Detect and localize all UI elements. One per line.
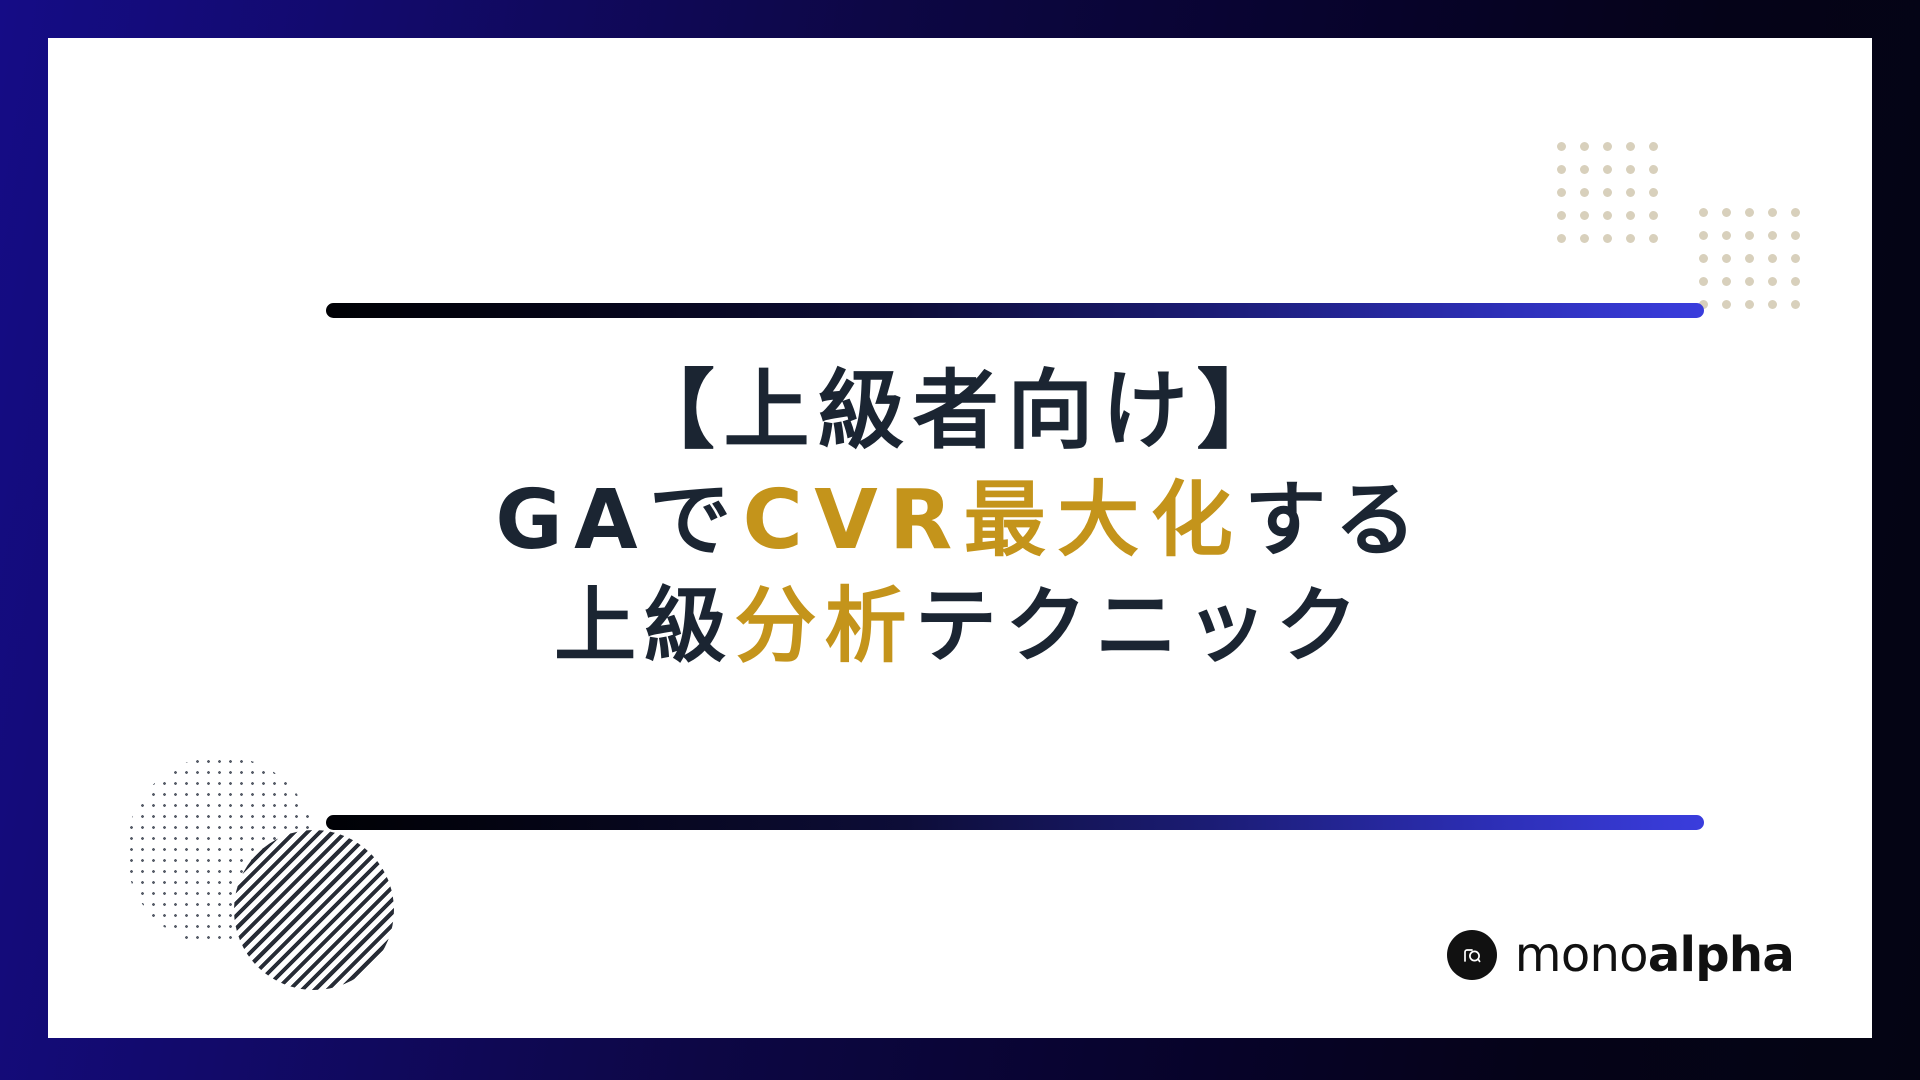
title-line-3: 上級分析テクニック <box>48 574 1872 681</box>
dot-grid-dot <box>1768 300 1777 309</box>
dot-grid-dot <box>1626 188 1635 197</box>
dot-grid-dot <box>1745 231 1754 240</box>
dot-grid-dot <box>1649 211 1658 220</box>
dot-grid-dot <box>1649 188 1658 197</box>
slide-card: 【上級者向け】 GAでCVR最大化する 上級分析テクニック monoalpha <box>48 38 1872 1038</box>
dot-grid-dot <box>1580 211 1589 220</box>
dot-grid-row <box>1699 300 1814 323</box>
dot-grid-dot <box>1603 165 1612 174</box>
title-line-2-highlight: CVR最大化 <box>743 473 1245 568</box>
brand-logo: monoalpha <box>1447 930 1794 980</box>
title-line-1: 【上級者向け】 <box>48 356 1872 468</box>
dot-grid-row <box>1557 142 1672 165</box>
logo-mark-icon <box>1447 930 1497 980</box>
dot-grid-pattern-lower <box>1699 208 1814 323</box>
dot-grid-dot <box>1626 211 1635 220</box>
dot-grid-row <box>1557 188 1672 211</box>
dot-grid-dot <box>1699 231 1708 240</box>
dot-grid-dot <box>1649 165 1658 174</box>
dot-grid-dot <box>1626 234 1635 243</box>
dot-grid-dot <box>1603 188 1612 197</box>
dot-grid-dot <box>1557 165 1566 174</box>
dot-grid-dot <box>1745 277 1754 286</box>
dot-grid-dot <box>1699 254 1708 263</box>
logo-wordmark-mono: mono <box>1515 927 1648 983</box>
dot-grid-dot <box>1745 300 1754 309</box>
dot-grid-dot <box>1768 208 1777 217</box>
title-line-2: GAでCVR最大化する <box>48 468 1872 575</box>
divider-rule-bottom <box>326 815 1704 830</box>
dot-grid-dot <box>1722 231 1731 240</box>
dot-grid-dot <box>1791 277 1800 286</box>
logo-wordmark: monoalpha <box>1515 931 1794 979</box>
dot-grid-dot <box>1603 142 1612 151</box>
dot-grid-dot <box>1649 234 1658 243</box>
dot-grid-dot <box>1580 234 1589 243</box>
dot-grid-dot <box>1699 277 1708 286</box>
dot-grid-dot <box>1699 208 1708 217</box>
dot-grid-row <box>1699 277 1814 300</box>
dot-grid-dot <box>1722 277 1731 286</box>
dot-grid-dot <box>1626 165 1635 174</box>
dot-grid-row <box>1557 165 1672 188</box>
dot-grid-dot <box>1580 165 1589 174</box>
dot-grid-dot <box>1557 188 1566 197</box>
dot-grid-dot <box>1745 254 1754 263</box>
divider-rule-top <box>326 303 1704 318</box>
dot-grid-dot <box>1768 254 1777 263</box>
dot-grid-row <box>1699 208 1814 231</box>
dot-grid-dot <box>1768 277 1777 286</box>
dot-grid-dot <box>1722 300 1731 309</box>
dot-grid-dot <box>1768 231 1777 240</box>
dot-grid-row <box>1557 211 1672 234</box>
logo-wordmark-alpha: alpha <box>1648 927 1794 983</box>
dot-grid-dot <box>1603 234 1612 243</box>
slide-background: 【上級者向け】 GAでCVR最大化する 上級分析テクニック monoalpha <box>0 0 1920 1080</box>
title-line-3-part3: テクニック <box>915 579 1366 674</box>
dot-grid-dot <box>1626 142 1635 151</box>
dot-grid-row <box>1557 234 1672 257</box>
dot-grid-dot <box>1722 254 1731 263</box>
dot-grid-dot <box>1791 231 1800 240</box>
dot-grid-dot <box>1649 142 1658 151</box>
dot-grid-dot <box>1557 211 1566 220</box>
dot-grid-dot <box>1603 211 1612 220</box>
dot-grid-dot <box>1745 208 1754 217</box>
title-line-2-part1: GAで <box>495 473 742 568</box>
dot-grid-dot <box>1791 254 1800 263</box>
dot-grid-dot <box>1791 300 1800 309</box>
dot-grid-row <box>1699 254 1814 277</box>
dot-grid-row <box>1699 231 1814 254</box>
title-line-2-part3: する <box>1244 473 1424 568</box>
dot-grid-dot <box>1580 142 1589 151</box>
dot-grid-dot <box>1580 188 1589 197</box>
title-line-3-part1: 上級 <box>554 579 734 674</box>
title-line-3-highlight: 分析 <box>734 579 914 674</box>
striped-circle-decoration <box>234 830 394 990</box>
dot-grid-dot <box>1722 208 1731 217</box>
page-title: 【上級者向け】 GAでCVR最大化する 上級分析テクニック <box>48 356 1872 681</box>
dot-grid-dot <box>1557 142 1566 151</box>
dot-grid-dot <box>1791 208 1800 217</box>
dot-grid-dot <box>1557 234 1566 243</box>
dot-grid-pattern-upper <box>1557 142 1672 257</box>
